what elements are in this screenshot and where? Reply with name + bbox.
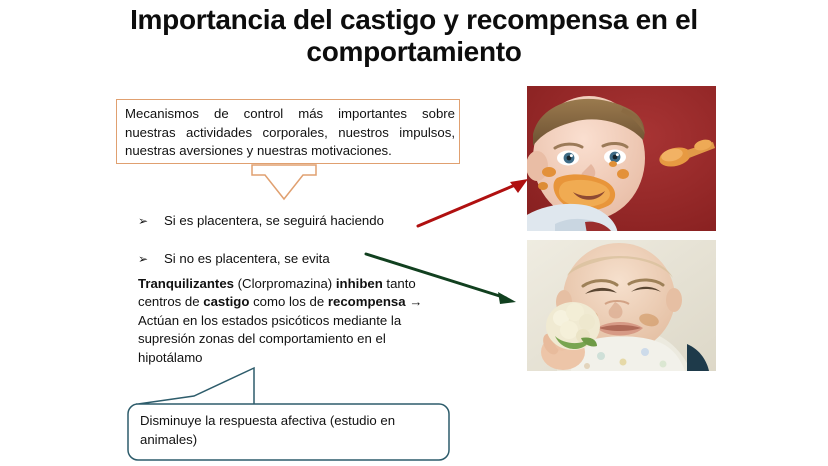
- list-item: ➢Si es placentera, se seguirá haciendo: [138, 212, 384, 230]
- paragraph-bold-tranquilizantes: Tranquilizantes: [138, 276, 234, 291]
- callout-line-2: animales): [140, 430, 430, 449]
- photo-toddler-grimacing-broccoli: [527, 240, 716, 371]
- statement-box-text: Mecanismos de control más importantes so…: [125, 105, 455, 161]
- photo-baby-eating-orange-puree: [527, 86, 716, 231]
- photo-top-graphic: [527, 86, 716, 231]
- bullet-arrow-icon: ➢: [138, 250, 164, 268]
- bullet-arrow-icon: ➢: [138, 212, 164, 230]
- list-item-label: Si es placentera, se seguirá haciendo: [164, 213, 384, 228]
- list-item: ➢Si no es placentera, se evita: [138, 250, 330, 268]
- list-item-label: Si no es placentera, se evita: [164, 251, 330, 266]
- statement-line-3: nuestras aversiones y nuestras motivacio…: [125, 142, 455, 161]
- photo-bottom-graphic: [527, 240, 716, 371]
- paragraph-bold-castigo: castigo: [203, 294, 249, 309]
- page-title: Importancia del castigo y recompensa en …: [104, 4, 724, 68]
- callout-line-1: Disminuye la respuesta afectiva (estudio…: [140, 411, 430, 430]
- arrow-green-to-bottom-photo: [362, 250, 520, 308]
- arrow-red-to-top-photo: [414, 176, 532, 230]
- slide-canvas: Importancia del castigo y recompensa en …: [0, 0, 828, 466]
- statement-box: Mecanismos de control más importantes so…: [116, 99, 460, 164]
- down-arrow-icon: [249, 163, 319, 201]
- statement-line-2: nuestras actividades corporales, nuestro…: [125, 124, 455, 143]
- paragraph-text-1: (Clorpromazina): [234, 276, 336, 291]
- callout-text: Disminuye la respuesta afectiva (estudio…: [140, 411, 430, 449]
- paragraph-text-3: como los de: [249, 294, 327, 309]
- statement-line-1: Mecanismos de control más importantes so…: [125, 105, 455, 124]
- callout-box: Disminuye la respuesta afectiva (estudio…: [126, 366, 451, 462]
